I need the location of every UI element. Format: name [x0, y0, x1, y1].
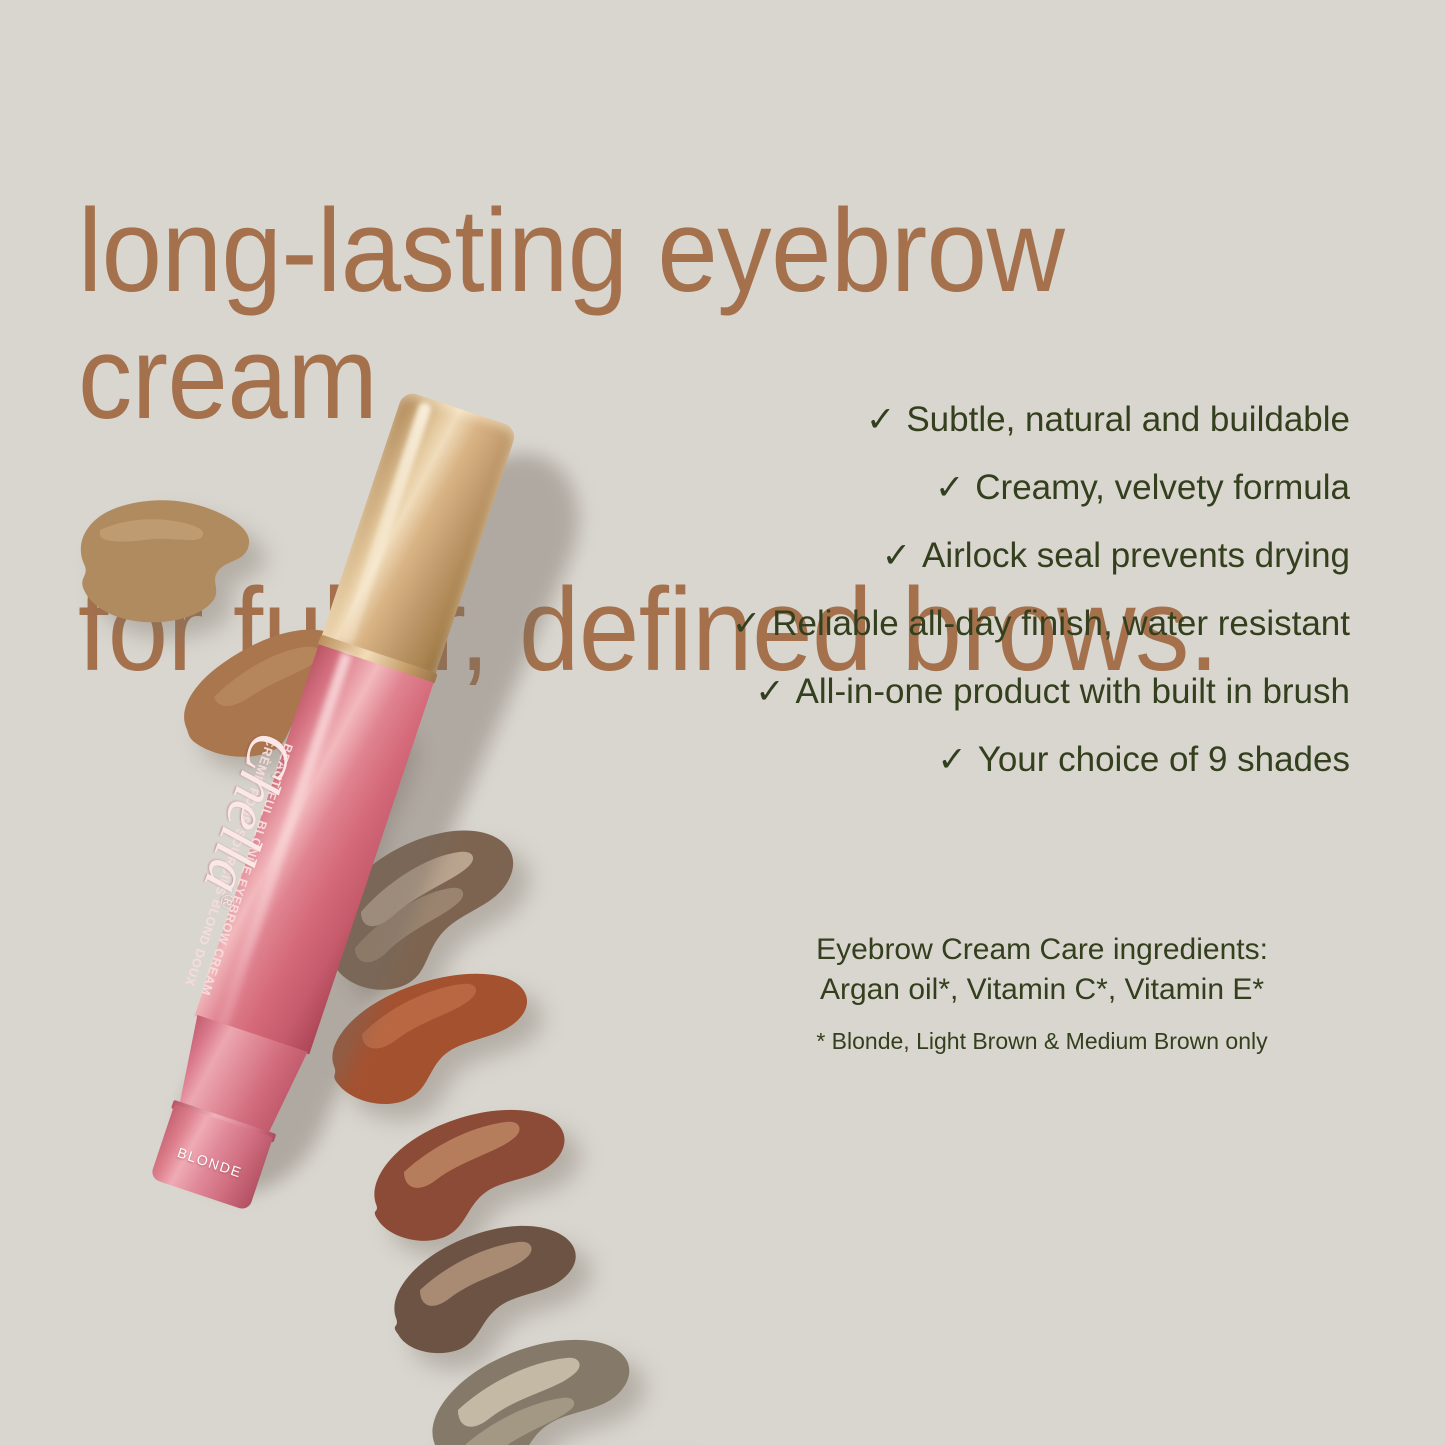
- ingredients-footnote: * Blonde, Light Brown & Medium Brown onl…: [742, 1028, 1342, 1055]
- list-item-label: Reliable all-day finish, water resistant: [772, 606, 1350, 641]
- check-icon: ✓: [732, 606, 761, 641]
- feature-list: ✓Subtle, natural and buildable ✓Creamy, …: [430, 402, 1350, 810]
- list-item: ✓Your choice of 9 shades: [430, 742, 1350, 777]
- check-icon: ✓: [755, 674, 784, 709]
- list-item-label: Creamy, velvety formula: [975, 470, 1350, 505]
- ingredients-block: Eyebrow Cream Care ingredients: Argan oi…: [742, 930, 1342, 1009]
- list-item: ✓Creamy, velvety formula: [430, 470, 1350, 505]
- check-icon: ✓: [937, 742, 966, 777]
- swatch-dark-brown-shape: [470, 1415, 720, 1445]
- list-item: ✓All-in-one product with built in brush: [430, 674, 1350, 709]
- check-icon: ✓: [866, 402, 895, 437]
- list-item-label: Airlock seal prevents drying: [922, 538, 1350, 573]
- swatch-dark-brown: [470, 1415, 720, 1445]
- ingredients-values: Argan oil*, Vitamin C*, Vitamin E*: [742, 970, 1342, 1010]
- check-icon: ✓: [882, 538, 911, 573]
- list-item-label: Your choice of 9 shades: [978, 742, 1350, 777]
- list-item: ✓Airlock seal prevents drying: [430, 538, 1350, 573]
- list-item: ✓Subtle, natural and buildable: [430, 402, 1350, 437]
- list-item: ✓Reliable all-day finish, water resistan…: [430, 606, 1350, 641]
- list-item-label: All-in-one product with built in brush: [796, 674, 1350, 709]
- product-marketing-image: long-lasting eyebrow cream for fuller, d…: [0, 0, 1445, 1445]
- check-icon: ✓: [935, 470, 964, 505]
- ingredients-heading: Eyebrow Cream Care ingredients:: [742, 930, 1342, 970]
- list-item-label: Subtle, natural and buildable: [906, 402, 1350, 437]
